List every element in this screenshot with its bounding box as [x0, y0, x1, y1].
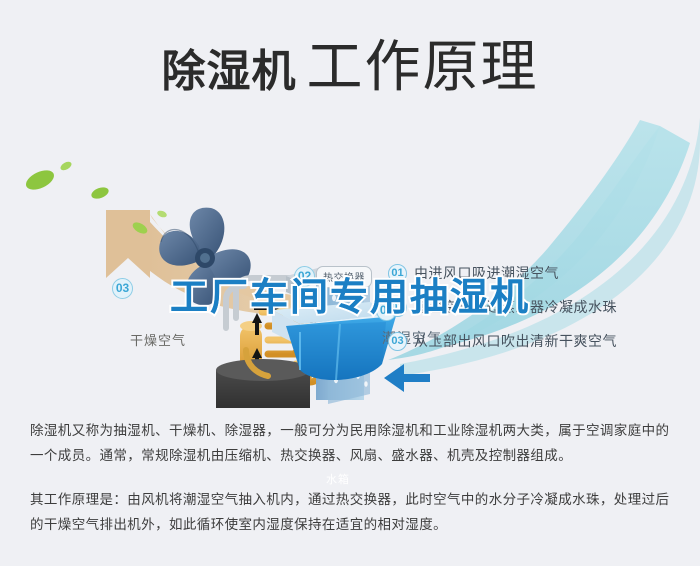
- step-text: 从上部出风口吹出清新干爽空气: [414, 331, 617, 351]
- machine-base: [216, 350, 310, 408]
- watermark-title: 工厂车间专用抽湿机: [0, 266, 700, 321]
- page-title-part1: 除湿机: [162, 47, 297, 96]
- step-number-badge: 03: [388, 332, 407, 351]
- description-block: 除湿机又称为抽湿机、干燥机、除湿器，一般可分为民用除湿机和工业除湿机两大类，属于…: [30, 418, 675, 537]
- page-title-part2: 工作原理: [307, 35, 539, 98]
- label-dry-air: 干燥空气: [130, 330, 186, 349]
- description-paragraph-1: 除湿机又称为抽湿机、干燥机、除湿器，一般可分为民用除湿机和工业除湿机两大类，属于…: [30, 418, 675, 468]
- list-item: 03 从上部出风口吹出清新干爽空气: [388, 324, 688, 358]
- infographic-page: 除湿机工作原理: [0, 0, 700, 566]
- description-paragraph-2: 其工作原理是：由风机将潮湿空气抽入机内，通过热交换器，此时空气中的水分子冷凝成水…: [30, 487, 675, 537]
- page-title: 除湿机工作原理: [0, 22, 700, 103]
